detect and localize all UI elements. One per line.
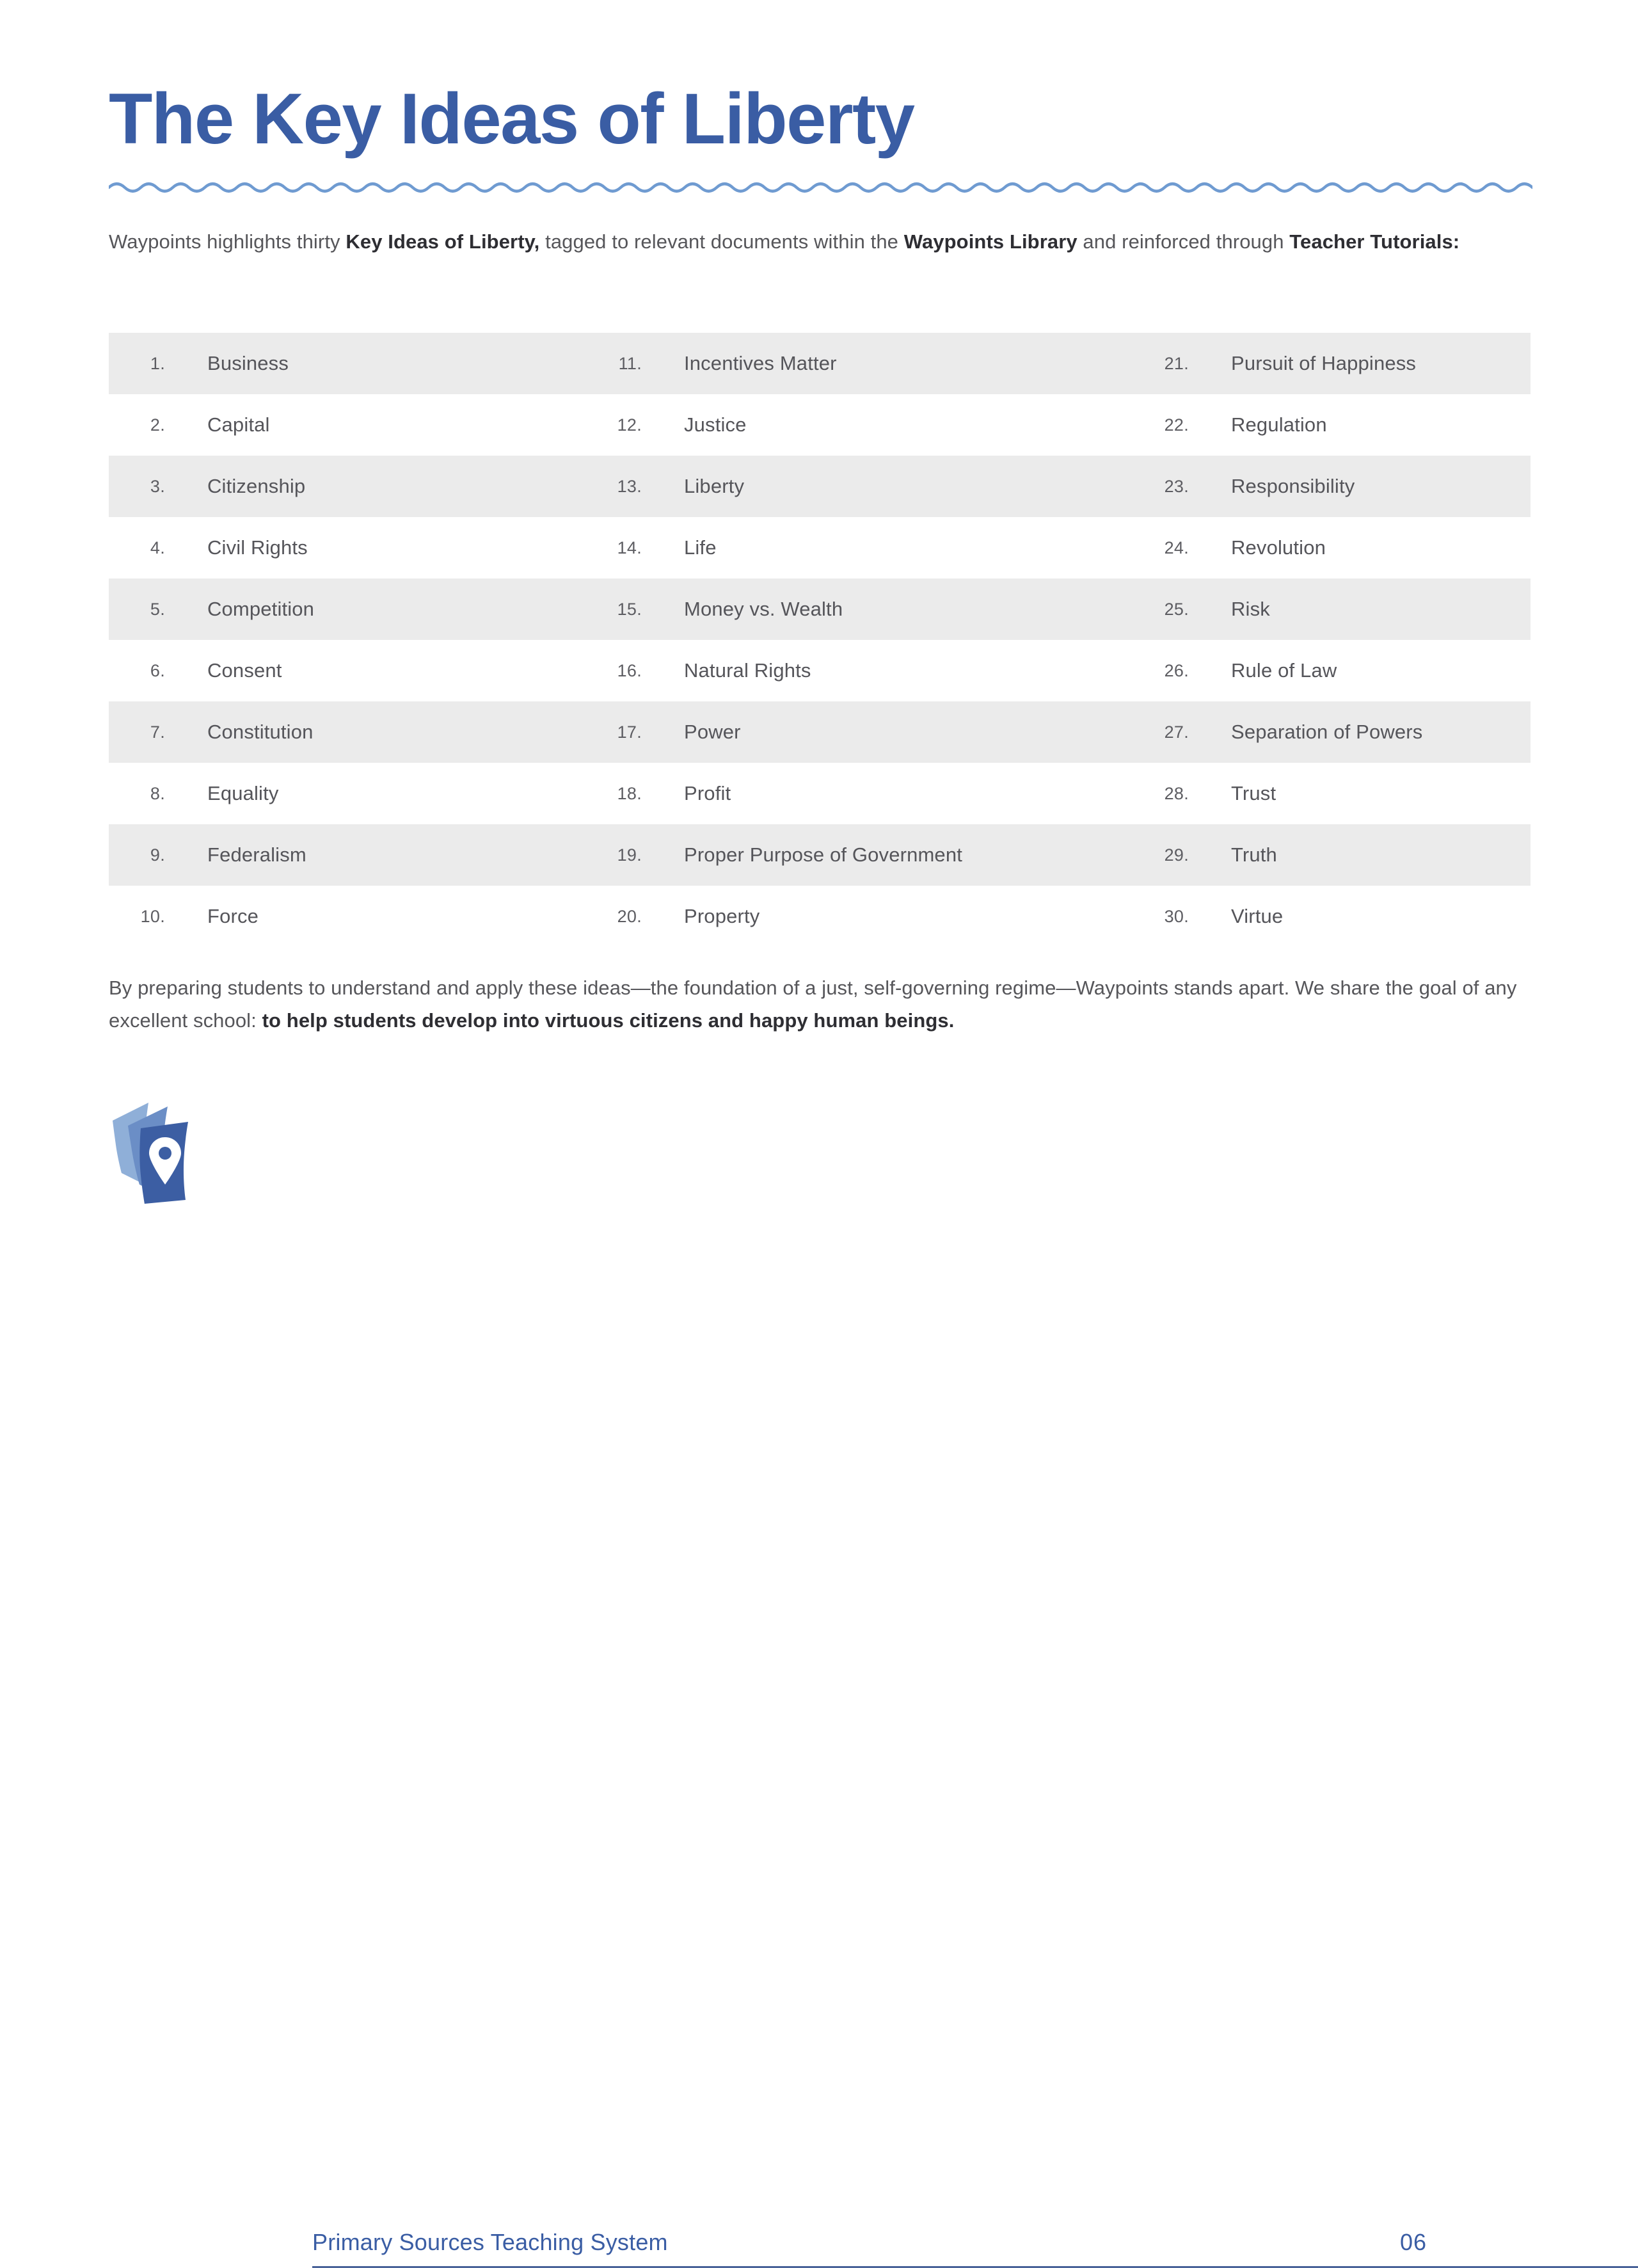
key-idea-label: Life	[642, 536, 717, 559]
body-text: Waypoints highlights thirty	[109, 230, 346, 253]
list-item-number: 14.	[592, 538, 642, 558]
table-row: 4.Civil Rights14.Life24.Revolution	[109, 517, 1531, 579]
table-cell-col1: 10.Force	[109, 886, 592, 947]
emphasis-text: to help students develop into virtuous c…	[262, 1009, 955, 1032]
key-idea-label: Liberty	[642, 475, 744, 498]
table-cell-col3: 23.Responsibility	[1139, 456, 1531, 517]
table-cell-col3: 22.Regulation	[1139, 394, 1531, 456]
table-cell-col2: 17.Power	[592, 701, 1139, 763]
page-footer: Primary Sources Teaching System 06	[109, 1098, 1532, 1206]
key-idea-label: Capital	[165, 413, 270, 436]
list-item-number: 12.	[592, 415, 642, 435]
list-item-number: 21.	[1139, 354, 1189, 374]
table-cell-col2: 16.Natural Rights	[592, 640, 1139, 701]
list-item-number: 15.	[592, 600, 642, 619]
key-idea-label: Constitution	[165, 721, 314, 744]
list-item-number: 27.	[1139, 723, 1189, 742]
page-number: 06	[1400, 2229, 1427, 2256]
list-item-number: 2.	[109, 415, 165, 435]
table-cell-col2: 18.Profit	[592, 763, 1139, 824]
table-cell-col1: 5.Competition	[109, 579, 592, 640]
list-item-number: 20.	[592, 907, 642, 927]
list-item-number: 26.	[1139, 661, 1189, 681]
document-page: The Key Ideas of Liberty Waypoints highl…	[0, 0, 1638, 1274]
table-cell-col2: 14.Life	[592, 517, 1139, 579]
table-cell-col2: 20.Property	[592, 886, 1139, 947]
list-item-number: 29.	[1139, 845, 1189, 865]
list-item-number: 7.	[109, 723, 165, 742]
table-cell-col3: 21.Pursuit of Happiness	[1139, 333, 1531, 394]
key-idea-label: Responsibility	[1189, 475, 1355, 498]
table-row: 3.Citizenship13.Liberty23.Responsibility	[109, 456, 1531, 517]
key-idea-label: Pursuit of Happiness	[1189, 352, 1416, 375]
list-item-number: 13.	[592, 477, 642, 497]
key-idea-label: Profit	[642, 782, 731, 805]
key-idea-label: Property	[642, 905, 759, 928]
key-idea-label: Natural Rights	[642, 659, 811, 682]
table-row: 7.Constitution17.Power27.Separation of P…	[109, 701, 1531, 763]
body-text: tagged to relevant documents within the	[539, 230, 903, 253]
key-idea-label: Force	[165, 905, 258, 928]
table-cell-col1: 8.Equality	[109, 763, 592, 824]
key-idea-label: Power	[642, 721, 741, 744]
table-row: 9.Federalism19.Proper Purpose of Governm…	[109, 824, 1531, 886]
footer-brand-label: Primary Sources Teaching System	[312, 2229, 668, 2256]
table-cell-col2: 15.Money vs. Wealth	[592, 579, 1139, 640]
key-ideas-table: 1.Business11.Incentives Matter21.Pursuit…	[109, 333, 1531, 947]
table-cell-col2: 19.Proper Purpose of Government	[592, 824, 1139, 886]
key-idea-label: Trust	[1189, 782, 1276, 805]
list-item-number: 30.	[1139, 907, 1189, 927]
list-item-number: 3.	[109, 477, 165, 497]
table-cell-col2: 13.Liberty	[592, 456, 1139, 517]
table-cell-col1: 2.Capital	[109, 394, 592, 456]
list-item-number: 23.	[1139, 477, 1189, 497]
key-idea-label: Incentives Matter	[642, 352, 837, 375]
key-idea-label: Regulation	[1189, 413, 1327, 436]
table-row: 8.Equality18.Profit28.Trust	[109, 763, 1531, 824]
key-idea-label: Consent	[165, 659, 282, 682]
wavy-divider-icon	[109, 180, 1532, 195]
list-item-number: 8.	[109, 784, 165, 804]
list-item-number: 19.	[592, 845, 642, 865]
table-cell-col3: 28.Trust	[1139, 763, 1531, 824]
key-idea-label: Money vs. Wealth	[642, 598, 843, 621]
body-text: and reinforced through	[1077, 230, 1290, 253]
stacked-pages-map-pin-logo-icon	[109, 1098, 203, 1205]
list-item-number: 5.	[109, 600, 165, 619]
key-idea-label: Rule of Law	[1189, 659, 1337, 682]
table-row: 5.Competition15.Money vs. Wealth25.Risk	[109, 579, 1531, 640]
key-idea-label: Truth	[1189, 843, 1277, 866]
list-item-number: 16.	[592, 661, 642, 681]
key-idea-label: Separation of Powers	[1189, 721, 1422, 744]
list-item-number: 28.	[1139, 784, 1189, 804]
table-cell-col3: 26.Rule of Law	[1139, 640, 1531, 701]
list-item-number: 6.	[109, 661, 165, 681]
table-cell-col3: 30.Virtue	[1139, 886, 1531, 947]
key-idea-label: Virtue	[1189, 905, 1283, 928]
key-idea-label: Proper Purpose of Government	[642, 843, 962, 866]
table-row: 10.Force20.Property30.Virtue	[109, 886, 1531, 947]
list-item-number: 11.	[592, 354, 642, 374]
closing-paragraph: By preparing students to understand and …	[109, 971, 1536, 1037]
key-idea-label: Revolution	[1189, 536, 1326, 559]
list-item-number: 22.	[1139, 415, 1189, 435]
table-row: 2.Capital12.Justice22.Regulation	[109, 394, 1531, 456]
list-item-number: 18.	[592, 784, 642, 804]
key-idea-label: Civil Rights	[165, 536, 308, 559]
key-idea-label: Risk	[1189, 598, 1270, 621]
page-title: The Key Ideas of Liberty	[109, 83, 914, 155]
table-cell-col1: 9.Federalism	[109, 824, 592, 886]
key-idea-label: Equality	[165, 782, 279, 805]
list-item-number: 24.	[1139, 538, 1189, 558]
emphasis-text: Teacher Tutorials:	[1289, 230, 1459, 253]
key-idea-label: Competition	[165, 598, 314, 621]
table-cell-col1: 3.Citizenship	[109, 456, 592, 517]
list-item-number: 25.	[1139, 600, 1189, 619]
key-idea-label: Citizenship	[165, 475, 305, 498]
table-cell-col2: 12.Justice	[592, 394, 1139, 456]
table-row: 6.Consent16.Natural Rights26.Rule of Law	[109, 640, 1531, 701]
intro-paragraph: Waypoints highlights thirty Key Ideas of…	[109, 225, 1513, 258]
emphasis-text: Waypoints Library	[904, 230, 1077, 253]
table-cell-col3: 25.Risk	[1139, 579, 1531, 640]
list-item-number: 4.	[109, 538, 165, 558]
table-cell-col1: 7.Constitution	[109, 701, 592, 763]
list-item-number: 17.	[592, 723, 642, 742]
list-item-number: 1.	[109, 354, 165, 374]
table-cell-col1: 1.Business	[109, 333, 592, 394]
table-row: 1.Business11.Incentives Matter21.Pursuit…	[109, 333, 1531, 394]
table-cell-col2: 11.Incentives Matter	[592, 333, 1139, 394]
table-cell-col3: 24.Revolution	[1139, 517, 1531, 579]
table-cell-col1: 6.Consent	[109, 640, 592, 701]
emphasis-text: Key Ideas of Liberty,	[346, 230, 539, 253]
table-cell-col3: 29.Truth	[1139, 824, 1531, 886]
key-idea-label: Justice	[642, 413, 747, 436]
table-cell-col3: 27.Separation of Powers	[1139, 701, 1531, 763]
list-item-number: 10.	[109, 907, 165, 927]
list-item-number: 9.	[109, 845, 165, 865]
key-idea-label: Business	[165, 352, 289, 375]
key-idea-label: Federalism	[165, 843, 306, 866]
table-cell-col1: 4.Civil Rights	[109, 517, 592, 579]
